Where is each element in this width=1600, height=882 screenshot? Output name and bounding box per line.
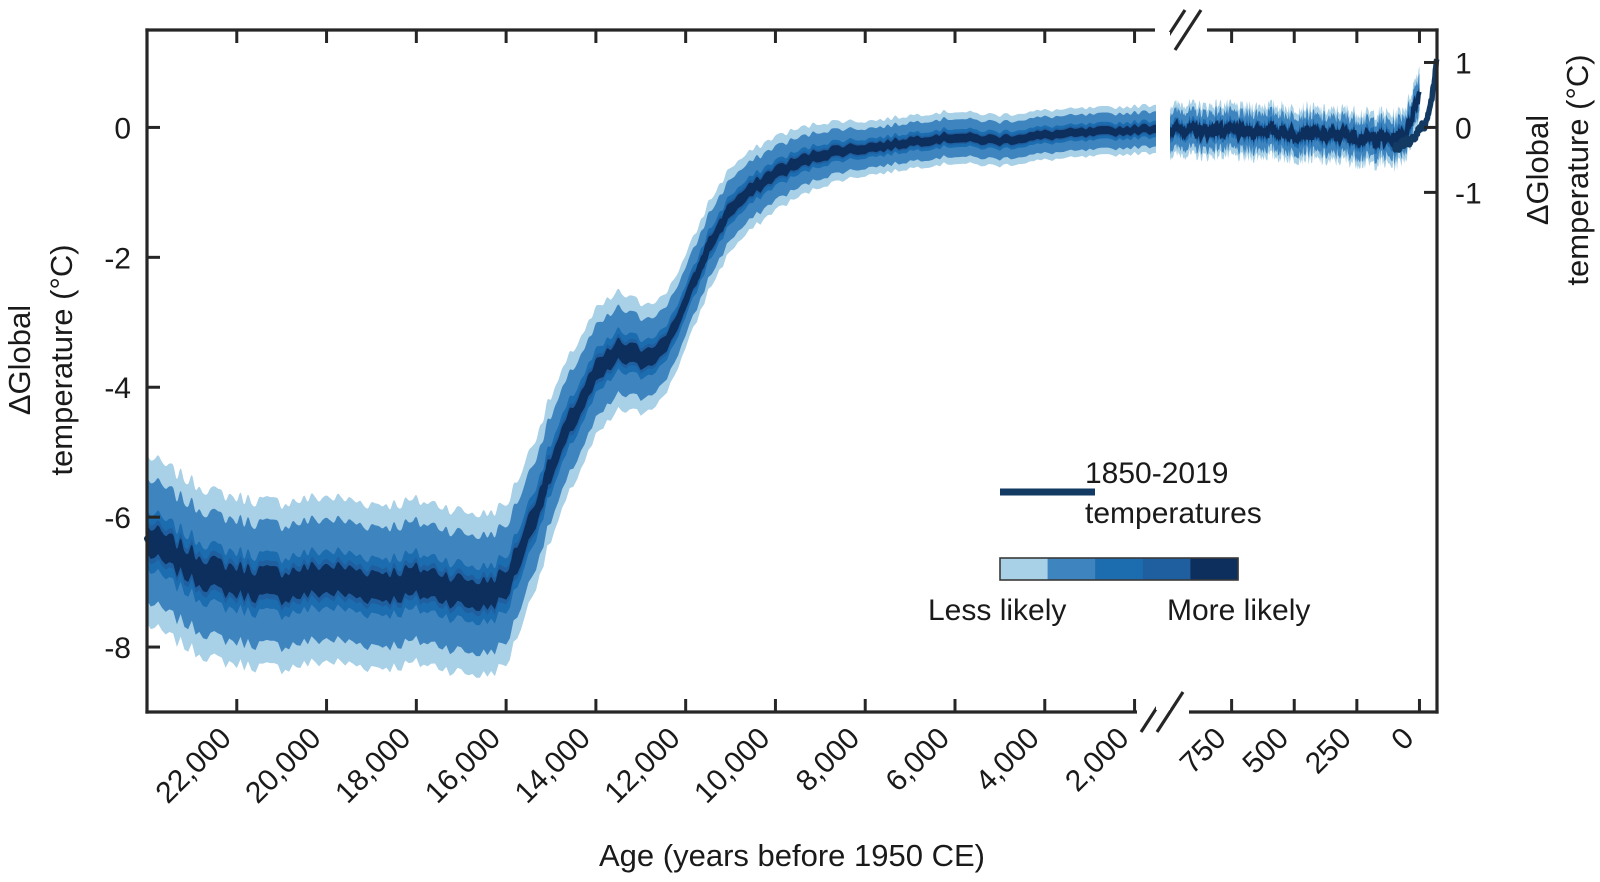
colorbar-label-more-likely: More likely [1167, 594, 1310, 627]
ytick-label-right-0: 1 [1455, 47, 1472, 80]
yaxis-right-title-line2: temperature (°C) [1560, 54, 1595, 285]
colorbar-swatch-2 [1048, 558, 1096, 580]
ytick-label-left-0: 0 [114, 112, 131, 145]
ytick-label-left-1: -2 [104, 242, 131, 275]
ytick-label-left-4: -8 [104, 632, 131, 665]
ytick-label-right-1: 0 [1455, 112, 1472, 145]
legend-line-label-1: 1850-2019 [1085, 457, 1228, 490]
colorbar-swatch-3 [1095, 558, 1143, 580]
figure-root: 0-2-4-6-810-122,00020,00018,00016,00014,… [0, 0, 1600, 882]
yaxis-right-title-line1: ΔGlobal [1520, 115, 1555, 225]
ytick-label-left-2: -4 [104, 372, 131, 405]
ytick-label-right-2: -1 [1455, 177, 1482, 210]
yaxis-left-title-line1: ΔGlobal [2, 305, 37, 415]
xaxis-title: Age (years before 1950 CE) [599, 838, 985, 873]
colorbar-swatch-1 [1000, 558, 1048, 580]
colorbar-swatch-5 [1190, 558, 1238, 580]
legend-line-label-2: temperatures [1085, 497, 1262, 530]
yaxis-left-title-line2: temperature (°C) [44, 244, 79, 475]
ytick-label-left-3: -6 [104, 502, 131, 535]
colorbar-label-less-likely: Less likely [928, 594, 1066, 627]
chart-svg: 0-2-4-6-810-122,00020,00018,00016,00014,… [0, 0, 1600, 882]
colorbar-swatch-4 [1143, 558, 1191, 580]
